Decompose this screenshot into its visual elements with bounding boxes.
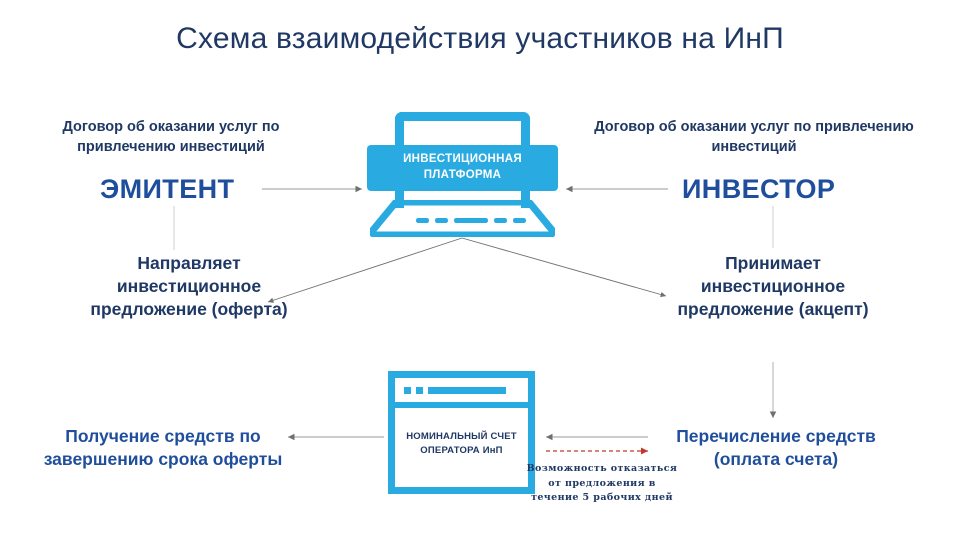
left-bottom-note: Получение средств по завершению срока оф… — [38, 425, 288, 472]
window-dot-icon — [416, 387, 423, 394]
window-dot-icon — [404, 387, 411, 394]
refusal-annotation: Возможность отказаться от предложения в … — [524, 462, 680, 506]
laptop-base — [370, 200, 555, 237]
right-bottom-note: Перечисление средств (оплата счета) — [652, 425, 900, 472]
right-flow-note: Принимает инвестиционное предложение (ак… — [662, 252, 884, 321]
nominal-account-label: НОМИНАЛЬНЫЙ СЧЕТ ОПЕРАТОРА ИнП — [395, 430, 528, 458]
right-contract-note: Договор об оказании услуг по привлечению… — [588, 117, 920, 157]
account-window-titlebar — [395, 378, 528, 408]
investment-platform-laptop: ИНВЕСТИЦИОННАЯ ПЛАТФОРМА — [370, 112, 555, 237]
address-bar-icon — [428, 387, 506, 394]
platform-banner-label: ИНВЕСТИЦИОННАЯ ПЛАТФОРМА — [367, 145, 558, 191]
left-contract-note: Договор об оказании услуг по привлечению… — [40, 117, 302, 157]
page-title: Схема взаимодействия участников на ИнП — [0, 22, 960, 56]
nominal-account-window: НОМИНАЛЬНЫЙ СЧЕТ ОПЕРАТОРА ИнП — [388, 371, 535, 494]
party-emitent: ЭМИТЕНТ — [100, 174, 234, 205]
party-investor: ИНВЕСТОР — [682, 174, 835, 205]
left-flow-note: Направляет инвестиционное предложение (о… — [78, 252, 300, 321]
diagram-canvas: Схема взаимодействия участников на ИнП — [0, 0, 960, 540]
